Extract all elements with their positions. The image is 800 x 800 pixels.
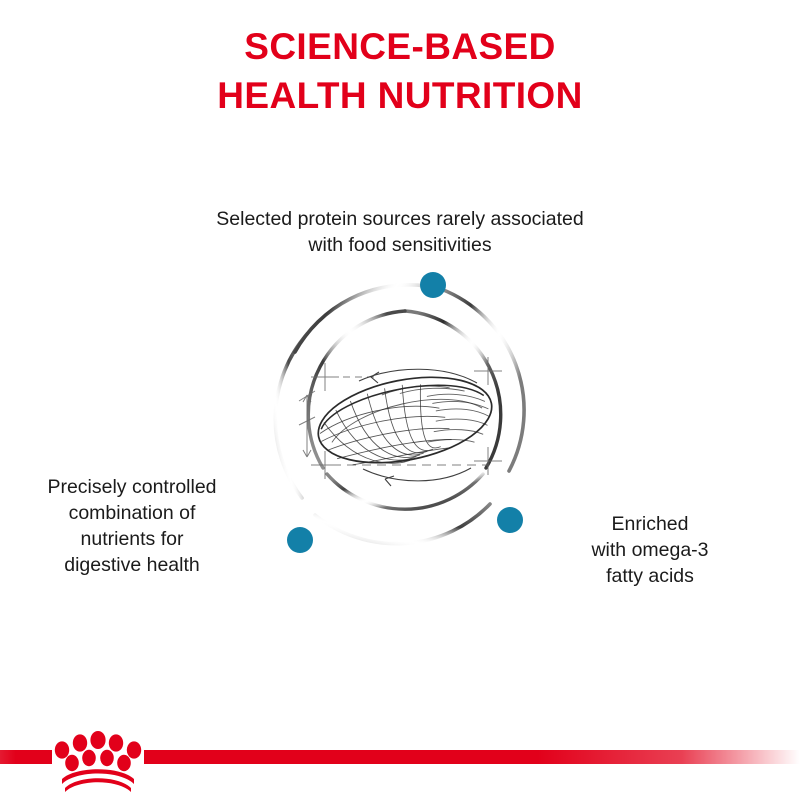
marker-dot-bottom-left — [287, 527, 313, 553]
benefit-line: Precisely controlled — [8, 475, 256, 501]
benefit-caption-digestive-health: Precisely controlled combination of nutr… — [8, 475, 256, 579]
benefit-caption-protein-sources: Selected protein sources rarely associat… — [150, 207, 650, 259]
brand-bar-right — [144, 750, 800, 764]
benefit-line: nutrients for — [8, 527, 256, 553]
benefit-line: Enriched — [530, 512, 770, 538]
marker-dot-bottom-right — [497, 507, 523, 533]
brand-footer — [0, 700, 800, 800]
page-title-line-1: SCIENCE-BASED — [0, 22, 800, 71]
benefit-caption-omega-3: Enriched with omega-3 fatty acids — [530, 512, 770, 590]
benefit-line: with omega-3 — [530, 538, 770, 564]
benefit-line: digestive health — [8, 553, 256, 579]
kibble-mesh-longitude — [320, 380, 443, 476]
page-title: SCIENCE-BASED HEALTH NUTRITION — [0, 22, 800, 120]
royal-canin-crown-logo — [55, 731, 141, 792]
benefit-line: combination of — [8, 501, 256, 527]
kibble-sketch — [299, 357, 502, 486]
benefit-line: with food sensitivities — [150, 233, 650, 259]
brand-footer-svg — [0, 700, 800, 800]
emblem-outer-ring — [275, 285, 524, 544]
marker-dot-top — [420, 272, 446, 298]
kibble-emblem — [255, 265, 555, 565]
benefit-line: Selected protein sources rarely associat… — [150, 207, 650, 233]
kibble-emblem-svg — [255, 265, 555, 565]
brand-bar-left — [0, 750, 52, 764]
page-title-line-2: HEALTH NUTRITION — [0, 71, 800, 120]
benefit-line: fatty acids — [530, 564, 770, 590]
